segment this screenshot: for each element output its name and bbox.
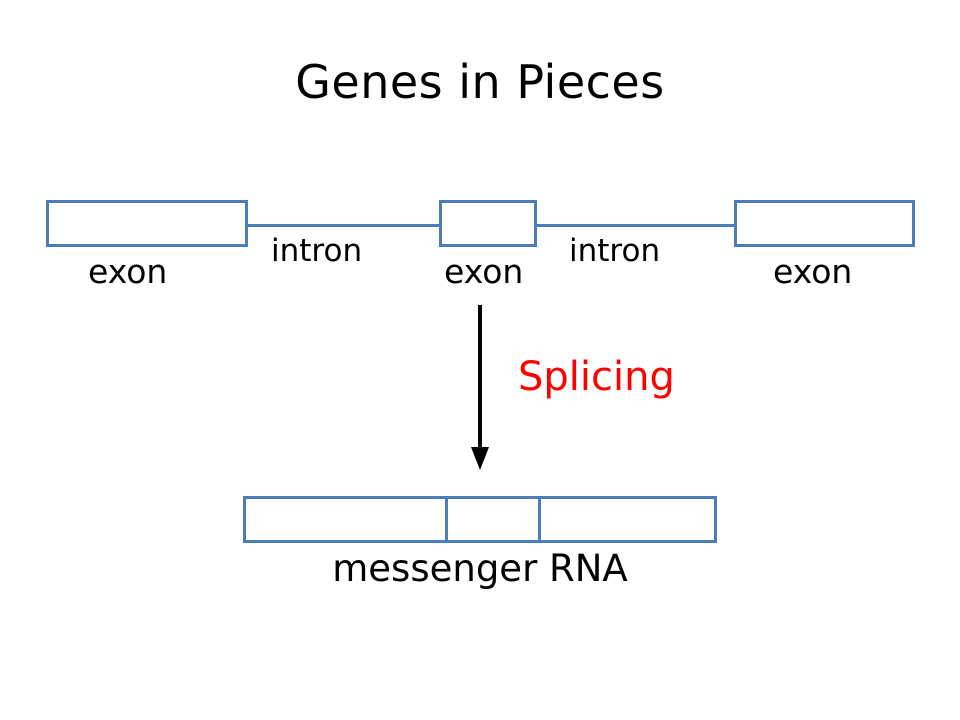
slide-canvas: Genes in Pieces exon intron exon intron … [0, 0, 960, 720]
intron-connector-2 [535, 224, 736, 227]
mrna-label: messenger RNA [0, 550, 960, 587]
mrna-divider-1 [445, 496, 448, 543]
exon-box-2[interactable] [439, 200, 537, 247]
exon-box-3[interactable] [734, 200, 915, 247]
exon-box-1[interactable] [46, 200, 248, 247]
page-title: Genes in Pieces [0, 56, 960, 109]
intron-label-1: intron [271, 236, 362, 267]
splicing-label: Splicing [518, 357, 675, 397]
exon-label-3: exon [773, 255, 852, 288]
intron-connector-1 [246, 224, 441, 227]
mrna-box[interactable] [243, 496, 717, 543]
exon-label-2: exon [444, 255, 523, 288]
down-arrow-icon [466, 305, 496, 475]
exon-label-1: exon [88, 255, 167, 288]
intron-label-2: intron [569, 236, 660, 267]
down-arrow-svg [466, 305, 496, 475]
mrna-divider-2 [538, 496, 541, 543]
